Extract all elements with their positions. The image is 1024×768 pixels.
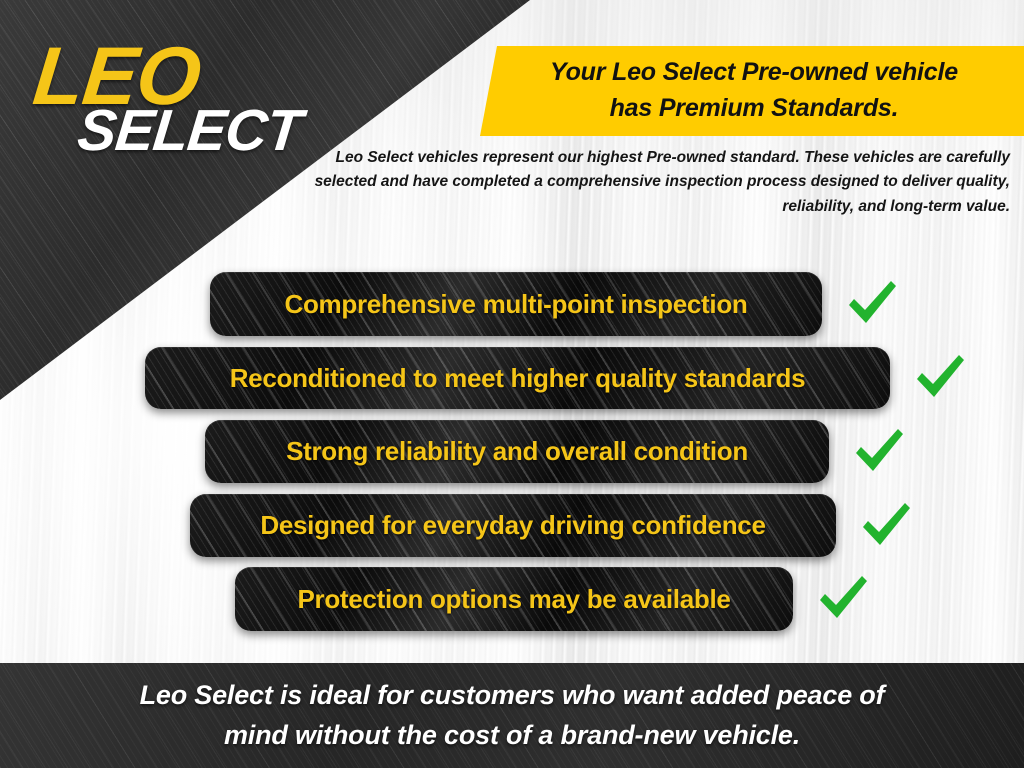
feature-row: Reconditioned to meet higher quality sta… — [145, 347, 966, 409]
feature-row: Protection options may be available — [235, 567, 869, 631]
headline-text: Your Leo Select Pre-owned vehicle has Pr… — [492, 54, 1016, 127]
headline-banner: Your Leo Select Pre-owned vehicle has Pr… — [462, 46, 1024, 136]
feature-label: Reconditioned to meet higher quality sta… — [230, 363, 806, 394]
check-icon — [858, 500, 912, 552]
feature-label: Comprehensive multi-point inspection — [284, 289, 747, 320]
check-icon — [844, 278, 898, 330]
intro-paragraph: Leo Select vehicles represent our highes… — [310, 146, 1010, 219]
check-icon — [815, 573, 869, 625]
feature-label: Strong reliability and overall condition — [286, 436, 748, 467]
brand-logo: LEO SELECT — [30, 36, 330, 176]
feature-row: Strong reliability and overall condition — [205, 420, 905, 483]
logo-word-select: SELECT — [75, 102, 304, 160]
leo-select-poster: LEO SELECT Your Leo Select Pre-owned veh… — [0, 0, 1024, 768]
feature-pill[interactable]: Designed for everyday driving confidence — [190, 494, 836, 557]
footer-line-2: mind without the cost of a brand-new veh… — [72, 716, 952, 755]
feature-row: Designed for everyday driving confidence — [190, 494, 912, 557]
headline-line-2: has Premium Standards. — [492, 90, 1016, 126]
feature-pill[interactable]: Protection options may be available — [235, 567, 793, 631]
footer-line-1: Leo Select is ideal for customers who wa… — [72, 676, 952, 715]
check-icon — [912, 352, 966, 404]
feature-label: Protection options may be available — [297, 584, 730, 615]
footer-band: Leo Select is ideal for customers who wa… — [0, 663, 1024, 768]
check-icon — [851, 426, 905, 478]
feature-pill[interactable]: Comprehensive multi-point inspection — [210, 272, 822, 336]
headline-line-1: Your Leo Select Pre-owned vehicle — [492, 54, 1016, 90]
footer-text: Leo Select is ideal for customers who wa… — [72, 676, 952, 754]
feature-label: Designed for everyday driving confidence — [260, 510, 765, 541]
feature-row: Comprehensive multi-point inspection — [210, 272, 898, 336]
feature-pill[interactable]: Reconditioned to meet higher quality sta… — [145, 347, 890, 409]
feature-pill[interactable]: Strong reliability and overall condition — [205, 420, 829, 483]
